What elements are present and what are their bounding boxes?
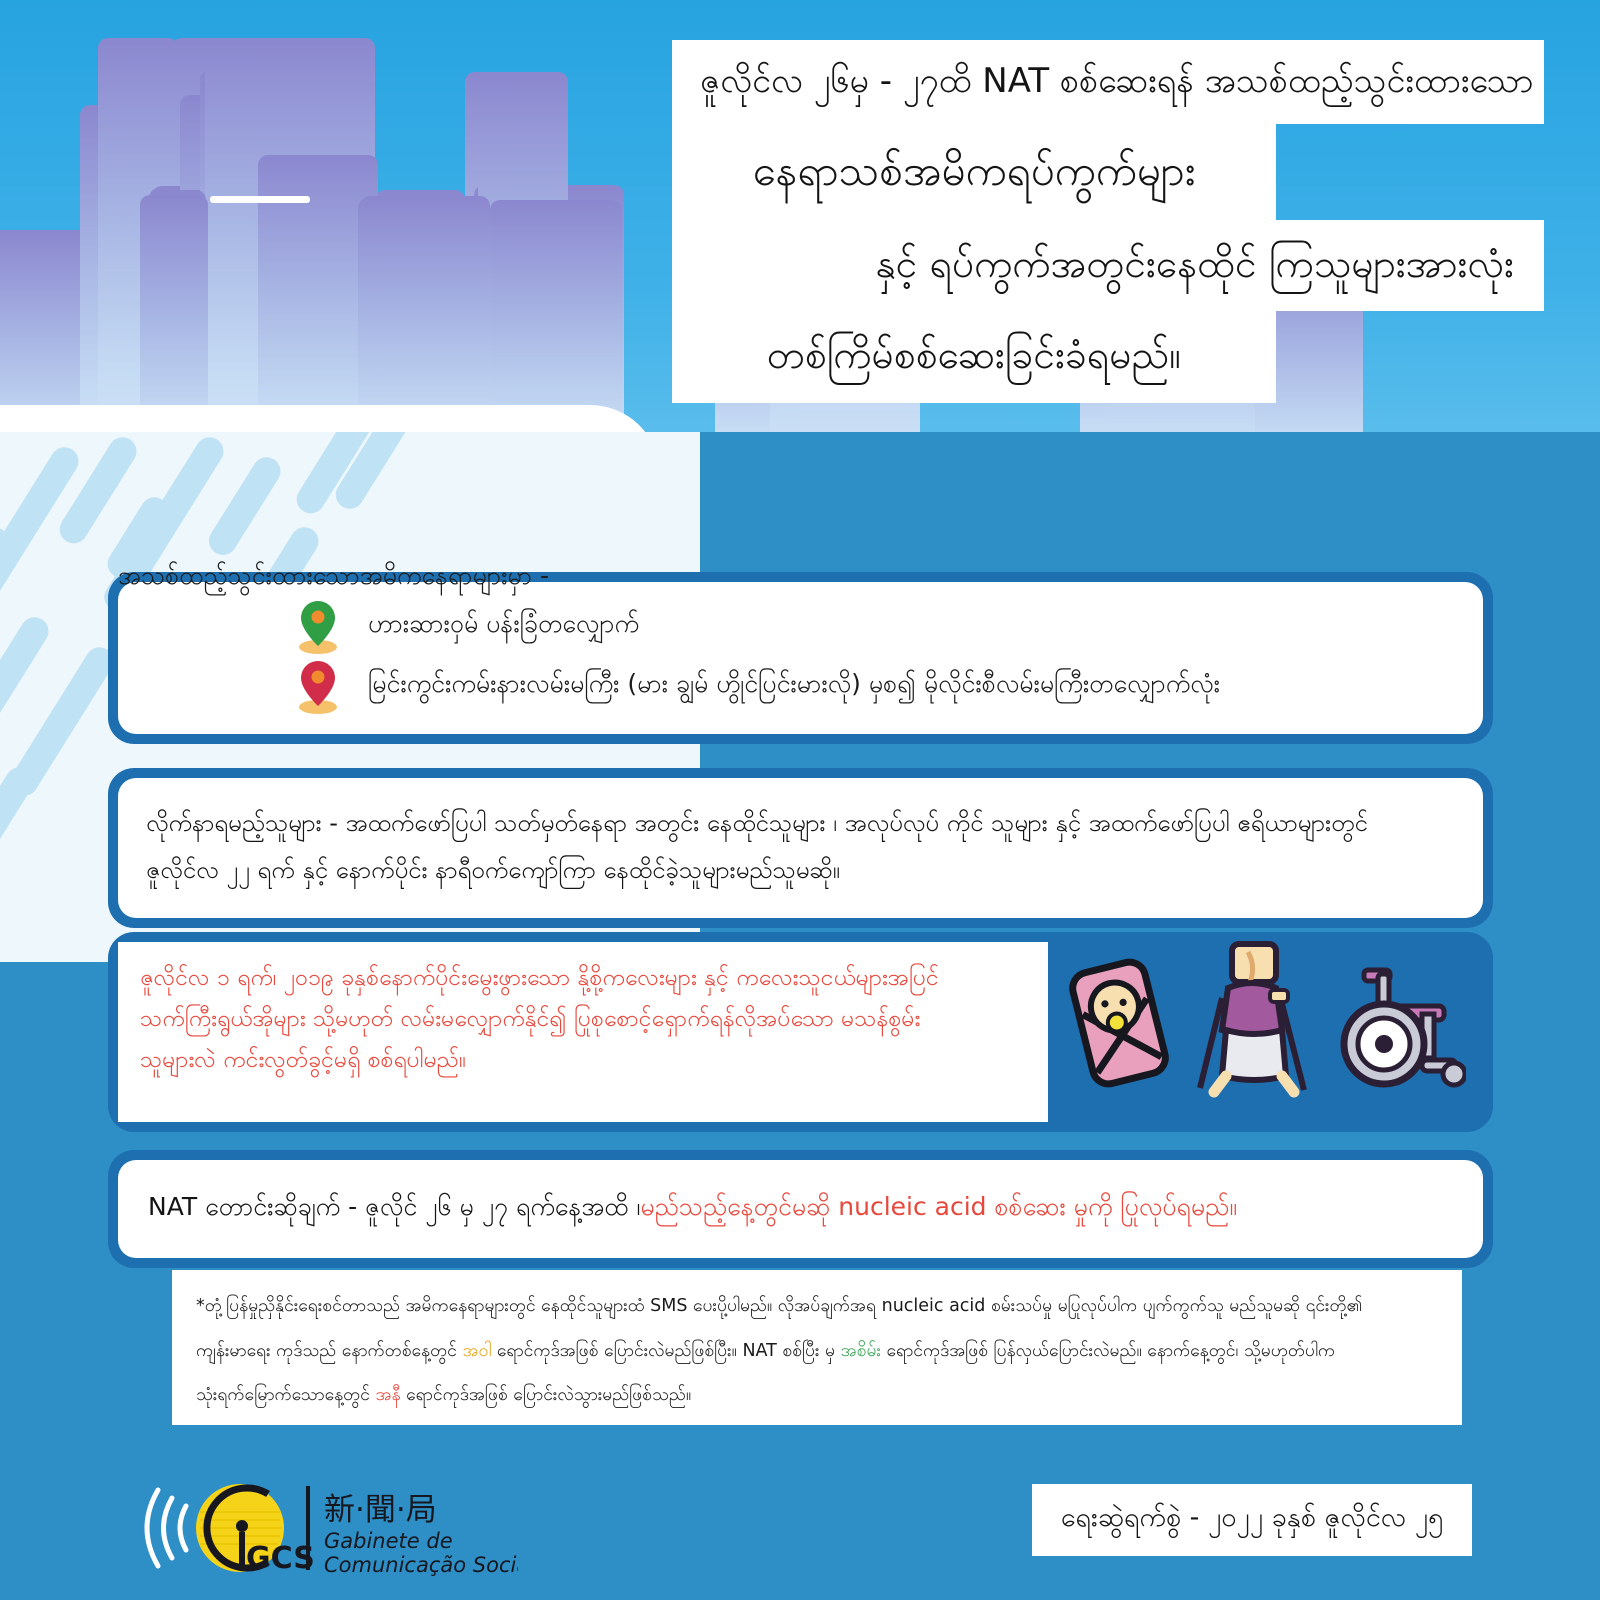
headline-line-4: တစ်ကြိမ်စစ်ဆေးခြင်းခံရမည်။	[672, 311, 1276, 402]
rules-line-1: လိုက်နာရမည့်သူများ - အထက်ဖော်ပြပါ သတ်မှတ…	[146, 800, 1455, 847]
locations-card: ဟားဆား၀ှမ် ပန်းခြံတလျှောက် မြင်းကွင်းကမ်…	[108, 572, 1493, 744]
exempt-line-1: ဇူလိုင်လ ၁ ရက်၊ ၂၀၁၉ ခုနှစ်နောက်ပိုင်းမွ…	[140, 958, 1026, 999]
headline-line-2: နေရာသစ်အမိကရပ်ကွက်များ	[672, 124, 1276, 220]
publish-date-label: ရေးဆွဲရက်စွဲ - ၂၀၂၂ ခုနှစ် ဇူလိုင်လ ၂၅	[1061, 1500, 1443, 1540]
diagonal-stripe	[204, 452, 286, 560]
exempt-icon-group	[1060, 942, 1480, 1102]
footnote-line-3-a: သုံးရက်မြောက်သောနေ့တွင်	[196, 1385, 375, 1405]
headline-line-3: နှင့် ရပ်ကွက်အတွင်းနေထိုင် ကြသူများအားလု…	[672, 220, 1544, 311]
footnote-line-1: *တုံ့ပြန်မှုညှိနိုင်းရေးစင်တာသည် အမိကနေရ…	[196, 1284, 1438, 1329]
publish-date-badge: ရေးဆွဲရက်စွဲ - ၂၀၂၂ ခုနှစ် ဇူလိုင်လ ၂၅	[1032, 1484, 1472, 1556]
map-pin-red-icon	[292, 657, 344, 715]
gcs-logo-pt-1: Gabinete de	[324, 1529, 453, 1553]
footnote-line-2-a: ကျန်းမာရေး ကုဒ်သည် နောက်တစ်နေ့တွင်	[196, 1341, 462, 1361]
elderly-person-with-crutches-icon	[1192, 938, 1312, 1102]
location-item: ဟားဆား၀ှမ် ပန်းခြံတလျှောက်	[292, 596, 1459, 656]
location-item: မြင်းကွင်းကမ်းနားလမ်းမကြီး (မား ချွမ် ဟွ…	[292, 656, 1459, 716]
gcs-logo: GCS 新·聞·局 Gabinete de Comunicação Social	[118, 1468, 518, 1588]
location-label: ဟားဆား၀ှမ် ပန်းခြံတလျှောက်	[368, 608, 639, 645]
location-label: မြင်းကွင်းကမ်းနားလမ်းမကြီး (မား ချွမ် ဟွ…	[368, 668, 1220, 705]
rules-card-body: လိုက်နာရမည့်သူများ - အထက်ဖော်ပြပါ သတ်မှတ…	[118, 778, 1483, 918]
footnote-line-3-b: ရောင်ကုဒ်အဖြစ် ပြောင်းလဲသွားမည်ဖြစ်သည်။	[401, 1385, 692, 1405]
wheelchair-icon	[1326, 948, 1466, 1102]
swaddled-baby-icon	[1060, 948, 1178, 1102]
locations-card-body: ဟားဆား၀ှမ် ပန်းခြံတလျှောက် မြင်းကွင်းကမ်…	[118, 582, 1483, 734]
nat-highlight: မည်သည့်နေ့တွင်မဆို nucleic acid စစ်ဆေး မ…	[640, 1191, 1237, 1228]
nat-label: NAT တောင်းဆိုချက် - ဇူလိုင် ၂၆ မှ ၂၇ ရက်…	[148, 1191, 640, 1228]
gcs-logo-mark: GCS	[246, 1541, 315, 1576]
footnote-line-2-b: ရောင်ကုဒ်အဖြစ် ပြောင်းလဲမည်ဖြစ်ပြီး။ NAT…	[491, 1341, 840, 1361]
exempt-line-2: သက်ကြီးရွယ်အိုများ သို့မဟုတ် လမ်းမလျှောက…	[140, 999, 1026, 1040]
gcs-logo-pt-2: Comunicação Social	[324, 1553, 518, 1577]
nat-card-body: NAT တောင်းဆိုချက် - ဇူလိုင် ၂၆ မှ ၂၇ ရက်…	[118, 1160, 1483, 1258]
health-code-red-word: အနီ	[375, 1385, 400, 1405]
health-code-yellow-word: အဝါ	[462, 1341, 491, 1361]
headline-line-1: ဇူလိုင်လ ၂၆မှ - ၂၇ထိ NAT စစ်ဆေးရန် အသစ်ထ…	[672, 40, 1544, 124]
health-code-green-word: အစိမ်း	[841, 1341, 881, 1361]
footnote-panel: *တုံ့ပြန်မှုညှိနိုင်းရေးစင်တာသည် အမိကနေရ…	[172, 1270, 1462, 1425]
building-window-icon	[210, 196, 310, 203]
rules-line-2: ဇူလိုင်လ ၂၂ ရက် နှင့် နောက်ပိုင်း နာရီ၀က…	[146, 847, 1455, 894]
poster-root: ဇူလိုင်လ ၂၆မှ - ၂၇ထိ NAT စစ်ဆေးရန် အသစ်ထ…	[0, 0, 1600, 1600]
footnote-line-2-c: ရောင်ကုဒ်အဖြစ် ပြန်လှယ်ပြောင်းလဲမည်။ နော…	[881, 1341, 1335, 1361]
headline-block: ဇူလိုင်လ ၂၆မှ - ၂၇ထိ NAT စစ်ဆေးရန် အသစ်ထ…	[672, 40, 1544, 403]
rules-card: လိုက်နာရမည့်သူများ - အထက်ဖော်ပြပါ သတ်မှတ…	[108, 768, 1493, 928]
footnote-line-3: သုံးရက်မြောက်သောနေ့တွင် အနီ ရောင်ကုဒ်အဖြ…	[196, 1373, 1438, 1418]
nat-requirement-card: NAT တောင်းဆိုချက် - ဇူလိုင် ၂၆ မှ ၂၇ ရက်…	[108, 1150, 1493, 1268]
locations-heading: အသစ်ထည့်သွင်းထားသောအမိကနေရာများမှာ -	[118, 560, 549, 597]
diagonal-stripe	[0, 612, 54, 729]
footnote-line-2: ကျန်းမာရေး ကုဒ်သည် နောက်တစ်နေ့တွင် အဝါ ရ…	[196, 1329, 1438, 1374]
exempt-text-panel: ဇူလိုင်လ ၁ ရက်၊ ၂၀၁၉ ခုနှစ်နောက်ပိုင်းမွ…	[118, 942, 1048, 1122]
exempt-line-3: သူများလဲ ကင်းလွတ်ခွင့်မရှိ စစ်ရပါမည်။	[140, 1040, 1026, 1081]
diagonal-stripe	[0, 762, 39, 870]
gcs-logo-chinese: 新·聞·局	[324, 1492, 437, 1528]
map-pin-green-icon	[292, 597, 344, 655]
